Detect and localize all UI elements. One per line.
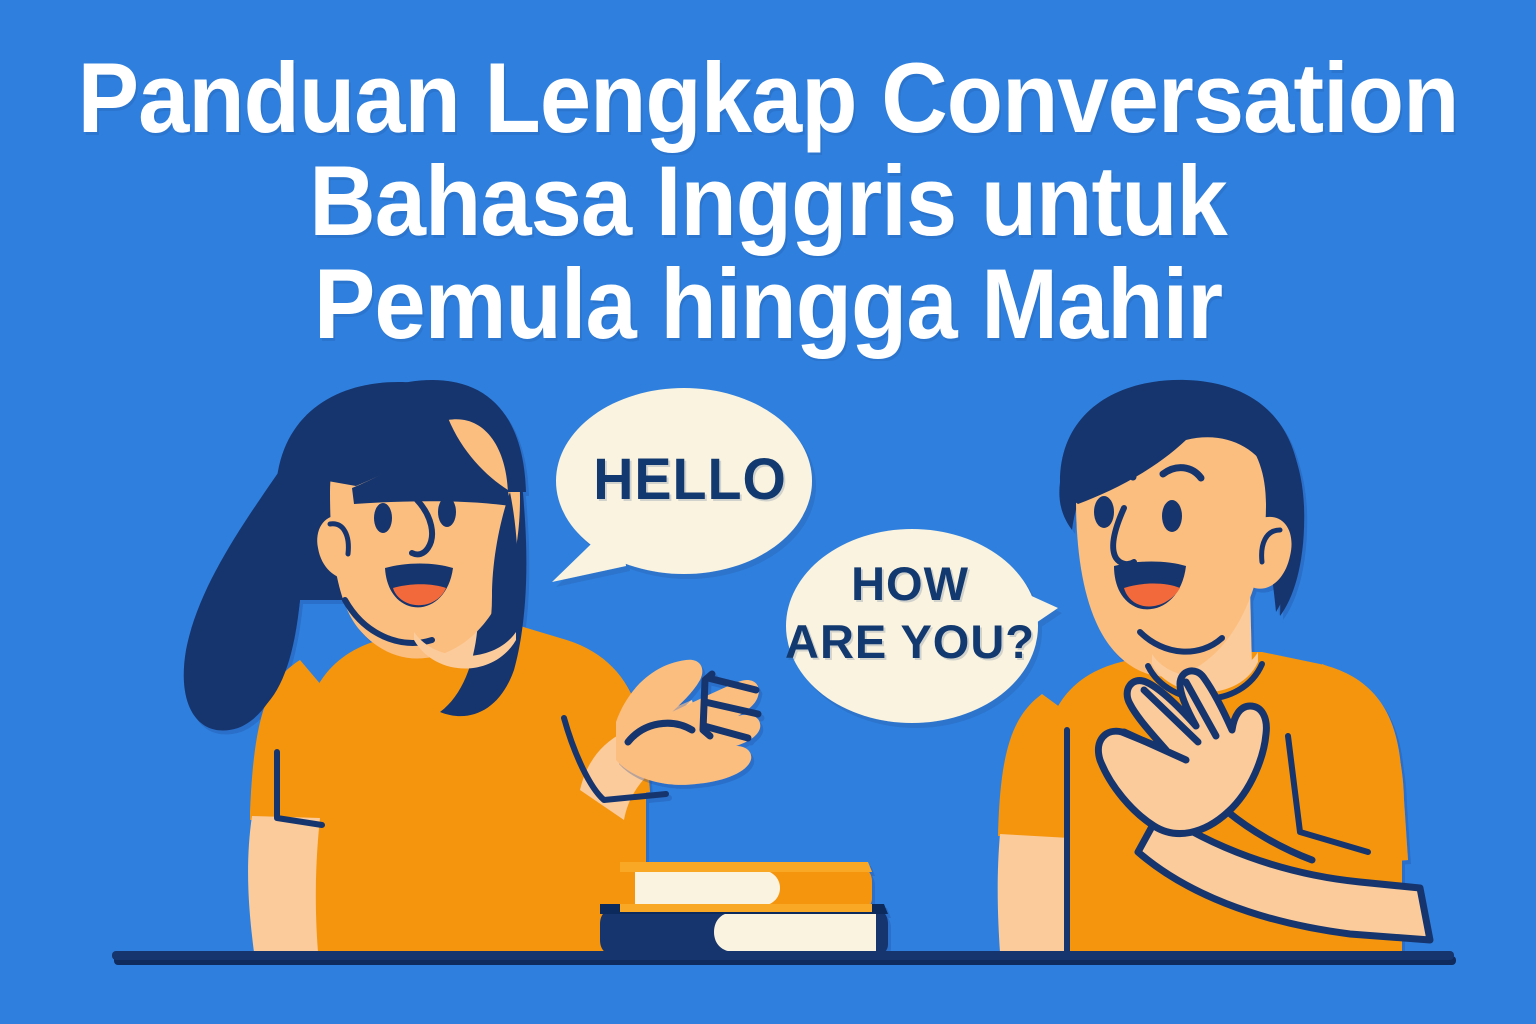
woman-left-arm — [248, 816, 320, 952]
illustration-layer — [0, 0, 1536, 1024]
table-line-main — [112, 951, 1454, 960]
table-line — [112, 951, 1456, 965]
woman-eye-right — [438, 497, 456, 527]
poster-canvas: Panduan Lengkap Conversation Bahasa Ingg… — [0, 0, 1536, 1024]
book-top-edge — [620, 862, 872, 872]
woman-eye-left — [374, 503, 392, 533]
book-top-bottom-edge — [620, 904, 872, 912]
how-bubble-body — [786, 529, 1038, 723]
book-top-pages — [635, 870, 780, 906]
man-eye-right — [1162, 500, 1182, 532]
man-eye-left — [1094, 496, 1114, 528]
book-bottom-pages — [714, 912, 876, 952]
books-stack — [600, 862, 888, 956]
man-left-arm — [998, 834, 1070, 952]
hello-bubble-body — [556, 388, 812, 574]
